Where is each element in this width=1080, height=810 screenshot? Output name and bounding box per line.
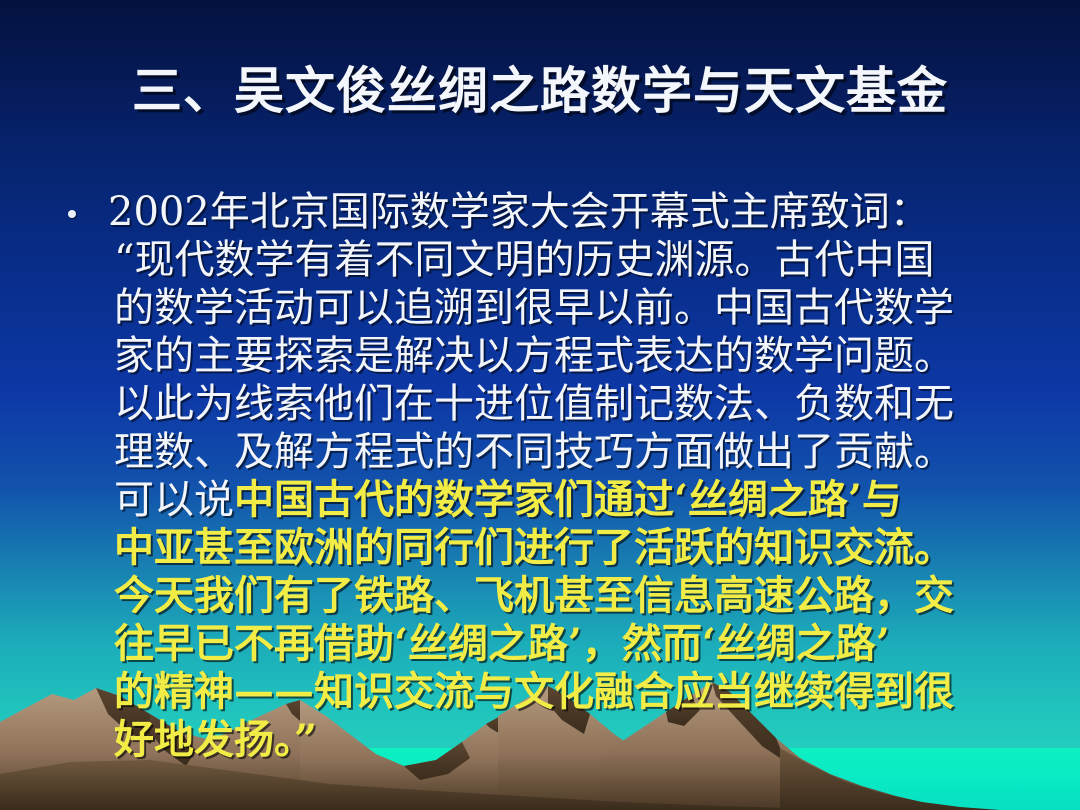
quote-line-text: 的数学活动可以追溯到很早以前。中国古代数学 [114,285,954,331]
quote-line-text: 中亚甚至欧洲的同行们进行了活跃的知识交流。 [114,524,954,571]
quote-line-text: 以此为线索他们在十进位值制记数法、负数和无 [114,381,954,427]
quote-line-text: 可以说 [114,477,234,523]
slide-body: 2002年北京国际数学家大会开幕式主席致词： “现代数学有着不同文明的历史渊源。… [62,188,1022,764]
quote-line-mixed: 可以说中国古代的数学家们通过‘丝绸之路’与 [62,476,1022,524]
quote-line: “现代数学有着不同文明的历史渊源。古代中国 [62,236,1022,284]
quote-line: 家的主要探索是解决以方程式表达的数学问题。 [62,332,1022,380]
quote-line-text: 今天我们有了铁路、飞机甚至信息高速公路，交 [114,572,954,619]
bullet-item-text: 2002年北京国际数学家大会开幕式主席致词： [108,189,930,235]
quote-line-text: “现代数学有着不同文明的历史渊源。古代中国 [114,237,934,283]
quote-line-highlight: 的精神——知识交流与文化融合应当继续得到很 [62,668,1022,716]
slide-canvas: 三、吴文俊丝绸之路数学与天文基金 2002年北京国际数学家大会开幕式主席致词： … [0,0,1080,810]
quote-line-highlight: 中国古代的数学家们通过‘丝绸之路’与 [234,476,902,523]
quote-line-text: 理数、及解方程式的不同技巧方面做出了贡献。 [114,429,954,475]
quote-line-highlight: 今天我们有了铁路、飞机甚至信息高速公路，交 [62,572,1022,620]
quote-line-highlight: 好地发扬。” [62,716,1022,764]
page-title: 三、吴文俊丝绸之路数学与天文基金 [0,62,1080,120]
quote-line-highlight: 往早已不再借助‘丝绸之路’，然而‘丝绸之路’ [62,620,1022,668]
quote-line: 的数学活动可以追溯到很早以前。中国古代数学 [62,284,1022,332]
quote-line: 理数、及解方程式的不同技巧方面做出了贡献。 [62,428,1022,476]
quote-line: 以此为线索他们在十进位值制记数法、负数和无 [62,380,1022,428]
bullet-item: 2002年北京国际数学家大会开幕式主席致词： [62,188,1022,236]
bullet-dot-icon [68,210,76,218]
quote-line-text: 的精神——知识交流与文化融合应当继续得到很 [114,668,954,715]
quote-line-highlight: 中亚甚至欧洲的同行们进行了活跃的知识交流。 [62,524,1022,572]
quote-line-text: 家的主要探索是解决以方程式表达的数学问题。 [114,333,954,379]
quote-line-text: 好地发扬。” [114,716,317,763]
quote-line-text: 往早已不再借助‘丝绸之路’，然而‘丝绸之路’ [114,620,890,667]
